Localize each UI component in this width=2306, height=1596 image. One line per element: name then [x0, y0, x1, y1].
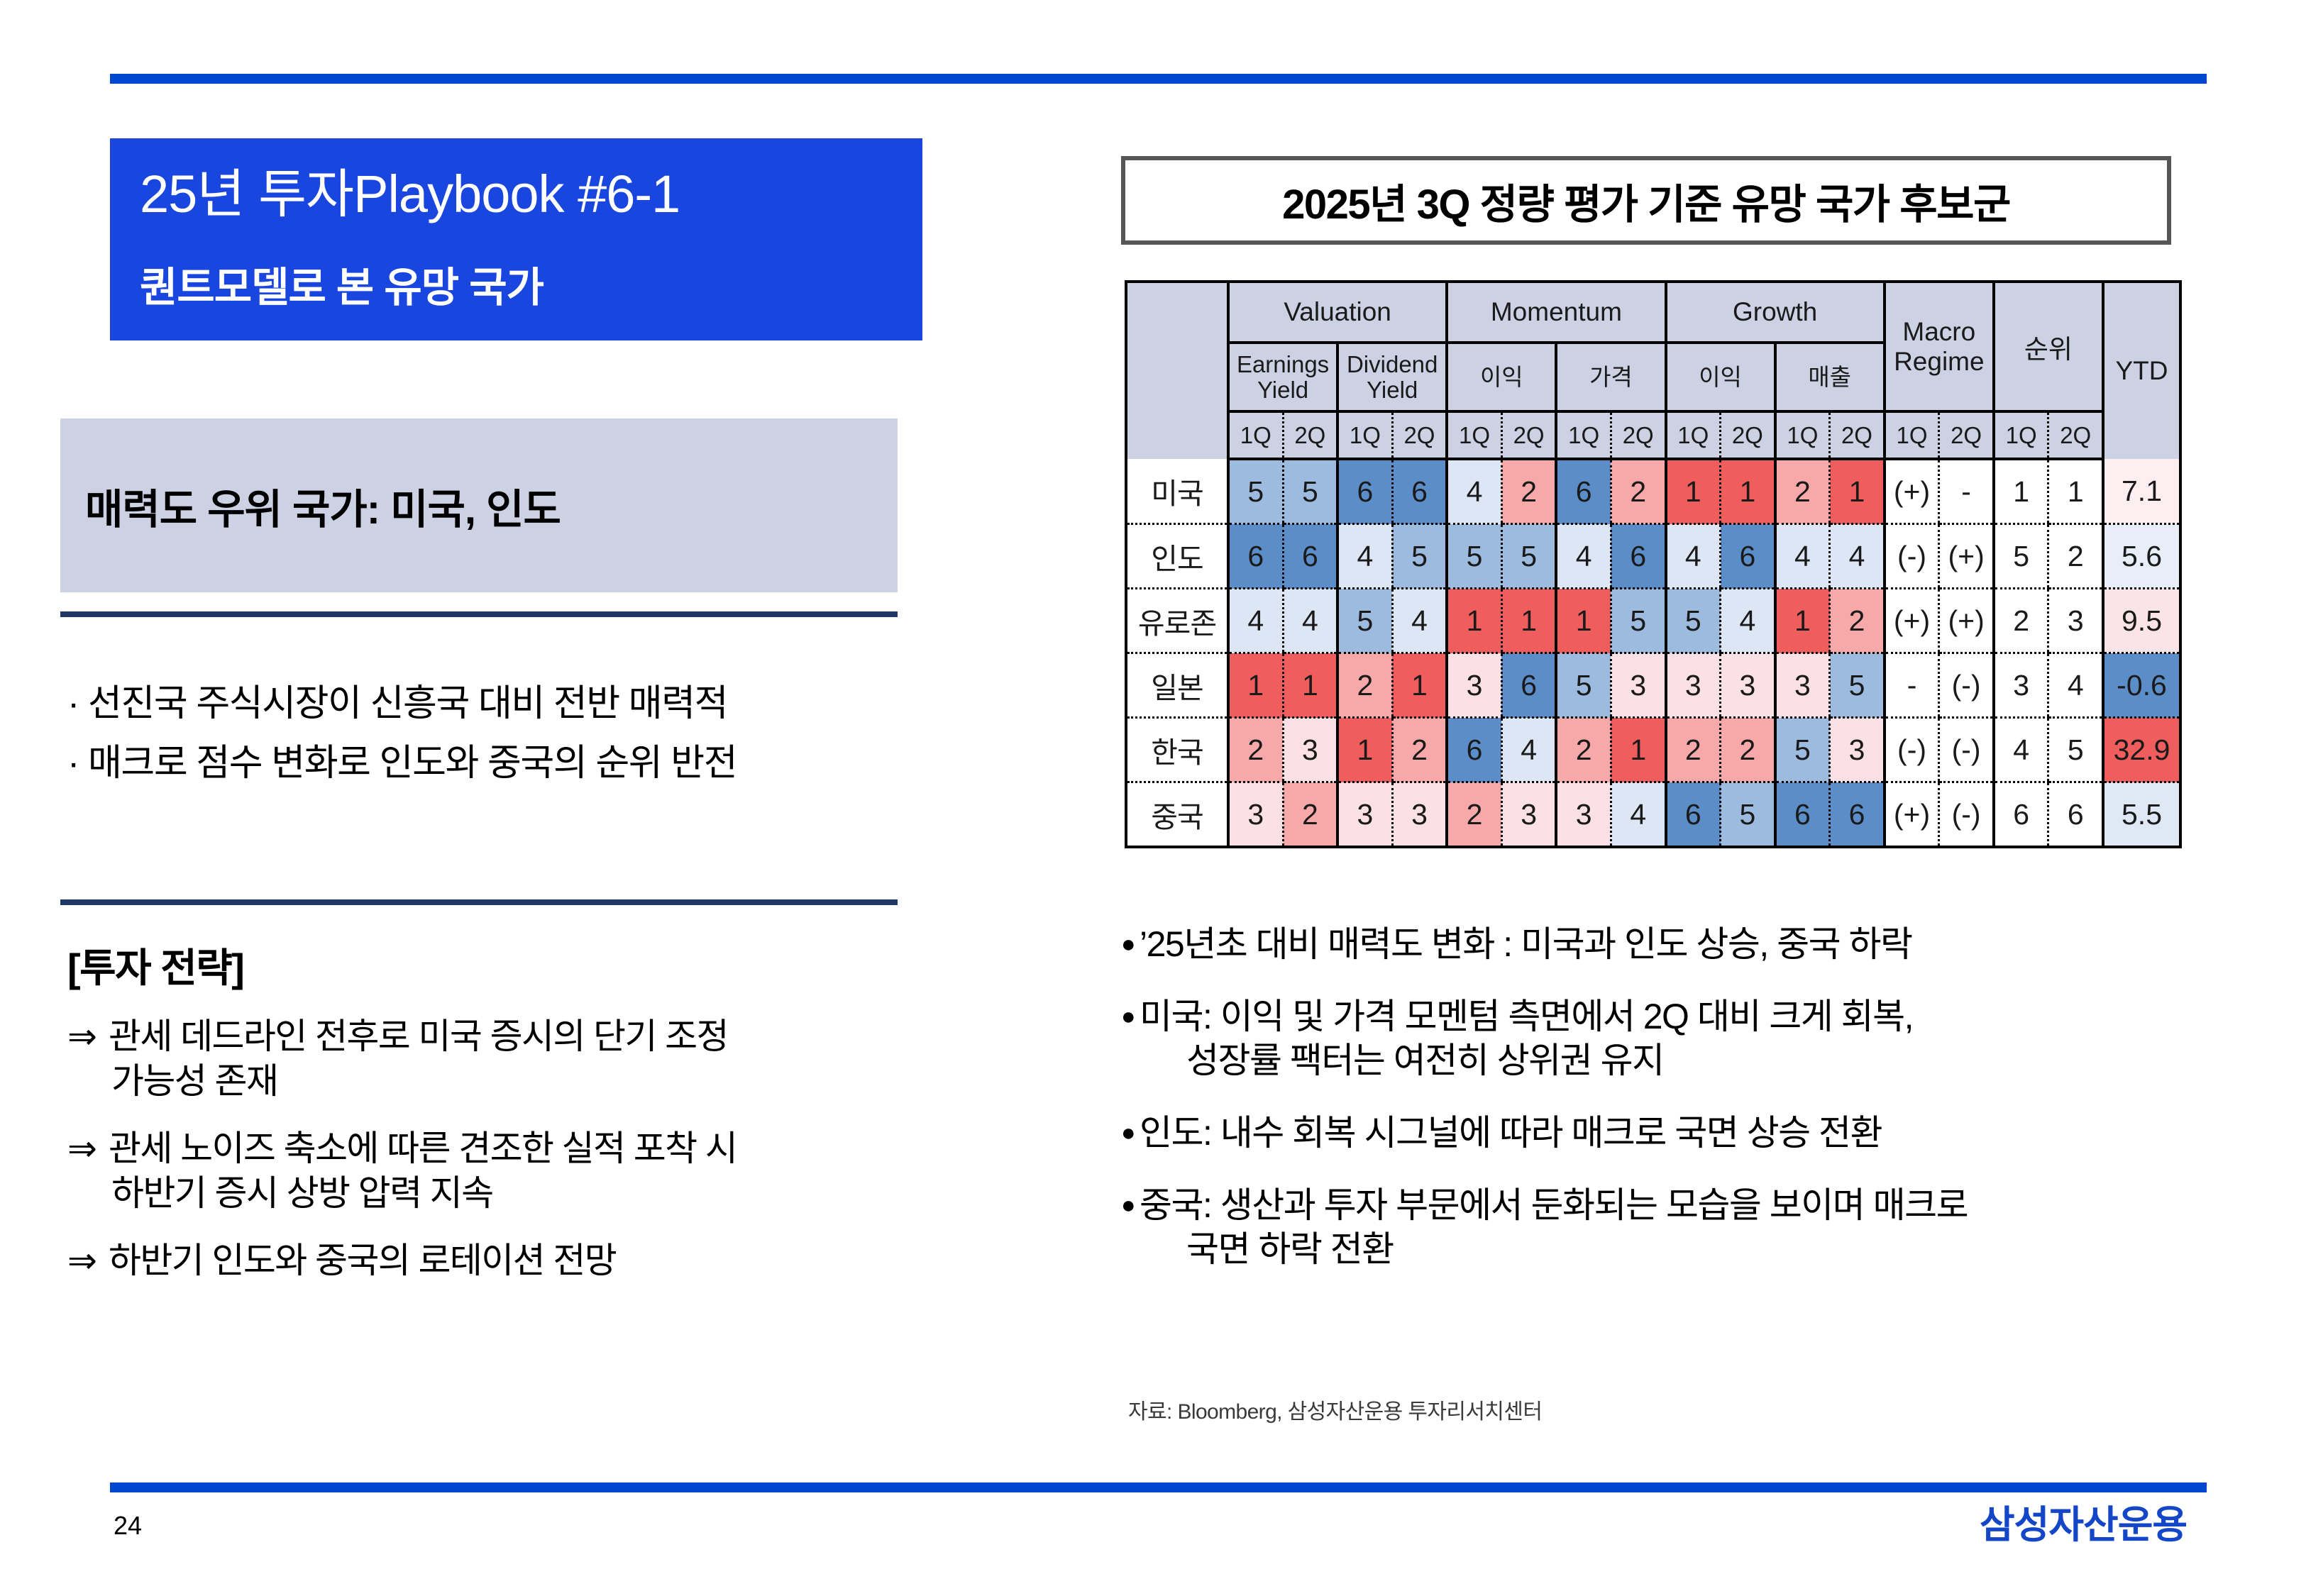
- score-cell: 4: [1228, 589, 1283, 653]
- group-header-valuation: Valuation: [1228, 282, 1447, 343]
- score-cell: 2: [1337, 653, 1392, 718]
- score-cell: 6: [1775, 782, 1830, 848]
- score-cell: 5: [1392, 524, 1447, 589]
- score-cell: 5: [1556, 653, 1611, 718]
- score-cell: 5: [1775, 718, 1830, 782]
- bullet-line2: 성장률 팩터는 여전히 상위권 유지: [1121, 1038, 2200, 1082]
- score-cell: 3: [1556, 782, 1611, 848]
- table-body: 미국556642621121(+)-117.1인도664555464644(-)…: [1126, 459, 2180, 847]
- score-cell: 5: [1666, 589, 1721, 653]
- strategy-list: ⇒관세 데드라인 전후로 미국 증시의 단기 조정 가능성 존재 ⇒관세 노이즈…: [67, 1014, 933, 1306]
- score-cell: 5: [1721, 782, 1775, 848]
- score-cell: 4: [1501, 718, 1556, 782]
- page-title: 25년 투자Playbook #6-1: [110, 165, 922, 224]
- score-cell: 1: [1283, 653, 1337, 718]
- macro-regime-cell: (+): [1939, 524, 1994, 589]
- score-cell: 3: [1337, 782, 1392, 848]
- macro-regime-cell: (+): [1885, 589, 1939, 653]
- top-rule: [110, 74, 2207, 84]
- strategy-item-line1: 관세 데드라인 전후로 미국 증시의 단기 조정: [109, 1016, 728, 1056]
- left-bullet-list: · 선진국 주식시장이 신흥국 대비 전반 매력적 · 매크로 점수 변화로 인…: [67, 674, 919, 793]
- score-cell: 5: [1611, 589, 1665, 653]
- quarter-header-2q: 2Q: [1501, 411, 1556, 459]
- ytd-cell: 5.6: [2103, 524, 2180, 589]
- left-column: 25년 투자Playbook #6-1 퀀트모델로 본 유망 국가: [110, 138, 1008, 340]
- page-number: 24: [114, 1511, 142, 1541]
- score-cell: 6: [1447, 718, 1501, 782]
- list-item: ⇒관세 노이즈 축소에 따른 견조한 실적 포착 시 하반기 증시 상방 압력 …: [67, 1126, 933, 1216]
- list-item: ●미국: 이익 및 가격 모멘텀 측면에서 2Q 대비 크게 회복, 성장률 팩…: [1121, 994, 2200, 1082]
- score-cell: 3: [1611, 653, 1665, 718]
- bullet-line1: 중국: 생산과 투자 부문에서 둔화되는 모습을 보이며 매크로: [1140, 1185, 1968, 1225]
- quarter-header-1q: 1Q: [1556, 411, 1611, 459]
- quarter-header-2q: 2Q: [1721, 411, 1775, 459]
- score-cell: 6: [1721, 524, 1775, 589]
- score-cell: 6: [1556, 459, 1611, 524]
- score-cell: 6: [1666, 782, 1721, 848]
- score-cell: 5: [1501, 524, 1556, 589]
- macro-regime-cell: (+): [1885, 459, 1939, 524]
- quarter-header-2q: 2Q: [1611, 411, 1665, 459]
- score-cell: 4: [1283, 589, 1337, 653]
- source-note: 자료: Bloomberg, 삼성자산운용 투자리서치센터: [1128, 1394, 1542, 1425]
- strategy-item-line1: 하반기 인도와 중국의 로테이션 전망: [109, 1241, 616, 1280]
- score-cell: 1: [1611, 718, 1665, 782]
- sub-header-earnings-yield: Earnings Yield: [1228, 343, 1337, 411]
- score-cell: 4: [1721, 589, 1775, 653]
- score-cell: 5: [1283, 459, 1337, 524]
- ytd-cell: 9.5: [2103, 589, 2180, 653]
- score-cell: 5: [1830, 653, 1885, 718]
- score-cell: 5: [1228, 459, 1283, 524]
- quarter-header-1q: 1Q: [1994, 411, 2048, 459]
- brand-logo: 삼성자산운용: [1980, 1493, 2187, 1549]
- score-cell: 6: [1830, 782, 1885, 848]
- sub-header-momentum-price: 가격: [1556, 343, 1665, 411]
- strategy-item-line1: 관세 노이즈 축소에 따른 견조한 실적 포착 시: [109, 1129, 737, 1168]
- highlight-banner: 매력도 우위 국가: 미국, 인도: [60, 419, 898, 592]
- sub-header-dividend-yield: Dividend Yield: [1337, 343, 1447, 411]
- country-score-table: Valuation Momentum Growth Macro Regime 순…: [1125, 280, 2182, 848]
- strategy-heading: [투자 전략]: [67, 936, 243, 994]
- score-cell: 5: [1337, 589, 1392, 653]
- score-cell: 6: [1392, 459, 1447, 524]
- sub-header-momentum-earnings: 이익: [1447, 343, 1556, 411]
- score-cell: 1: [1392, 653, 1447, 718]
- group-header-rank: 순위: [1994, 282, 2103, 411]
- score-cell: 6: [1611, 524, 1665, 589]
- quarter-header-1q: 1Q: [1885, 411, 1939, 459]
- page-subtitle: 퀀트모델로 본 유망 국가: [110, 224, 922, 311]
- macro-regime-cell: (-): [1885, 524, 1939, 589]
- score-cell: 4: [1611, 782, 1665, 848]
- bullet-line1: 미국: 이익 및 가격 모멘텀 측면에서 2Q 대비 크게 회복,: [1140, 997, 1913, 1036]
- rank-cell: 3: [2048, 589, 2103, 653]
- list-item: · 매크로 점수 변화로 인도와 중국의 순위 반전: [67, 733, 919, 793]
- score-cell: 1: [1556, 589, 1611, 653]
- quarter-header-2q: 2Q: [1283, 411, 1337, 459]
- score-cell: 1: [1337, 718, 1392, 782]
- row-label-1: 미국: [1126, 459, 1228, 524]
- quarter-header-1q: 1Q: [1775, 411, 1830, 459]
- score-cell: 2: [1392, 718, 1447, 782]
- macro-regime-cell: -: [1939, 459, 1994, 524]
- score-cell: 2: [1556, 718, 1611, 782]
- bullet-dot-icon: ●: [1121, 1118, 1140, 1148]
- table-row: 한국231264212253(-)(-)4532.9: [1126, 718, 2180, 782]
- score-cell: 4: [1337, 524, 1392, 589]
- quarter-header-1q: 1Q: [1447, 411, 1501, 459]
- bullet-line1: ’25년초 대비 매력도 변화 : 미국과 인도 상승, 중국 하락: [1140, 924, 1912, 964]
- bullet-line1: 인도: 내수 회복 시그널에 따라 매크로 국면 상승 전환: [1140, 1113, 1882, 1153]
- list-item: · 선진국 주식시장이 신흥국 대비 전반 매력적: [67, 674, 919, 733]
- bullet-dot-icon: ●: [1121, 1002, 1140, 1031]
- right-bullet-list: ●’25년초 대비 매력도 변화 : 미국과 인도 상승, 중국 하락 ●미국:…: [1121, 922, 2200, 1299]
- quarter-header-2q: 2Q: [1830, 411, 1885, 459]
- score-cell: 2: [1830, 589, 1885, 653]
- rank-cell: 6: [1994, 782, 2048, 848]
- quarter-header-1q: 1Q: [1228, 411, 1283, 459]
- rank-cell: 1: [1994, 459, 2048, 524]
- score-cell: 3: [1228, 782, 1283, 848]
- group-header-ytd: YTD: [2103, 282, 2180, 459]
- quarter-header-2q: 2Q: [1392, 411, 1447, 459]
- macro-regime-cell: (-): [1939, 782, 1994, 848]
- score-cell: 3: [1392, 782, 1447, 848]
- rank-cell: 4: [1994, 718, 2048, 782]
- score-cell: 2: [1721, 718, 1775, 782]
- bullet-dot-icon: ●: [1121, 929, 1140, 959]
- macro-regime-cell: (-): [1939, 653, 1994, 718]
- group-header-growth: Growth: [1666, 282, 1885, 343]
- score-cell: 6: [1283, 524, 1337, 589]
- rank-cell: 5: [2048, 718, 2103, 782]
- score-cell: 4: [1666, 524, 1721, 589]
- table-header-row-quarters: 1Q 2Q 1Q 2Q 1Q 2Q 1Q 2Q 1Q 2Q 1Q 2Q 1Q 2…: [1126, 411, 2180, 459]
- score-cell: 6: [1337, 459, 1392, 524]
- table-header: Valuation Momentum Growth Macro Regime 순…: [1126, 282, 2180, 459]
- quarter-header-1q: 1Q: [1666, 411, 1721, 459]
- score-cell: 3: [1501, 782, 1556, 848]
- list-item: ●’25년초 대비 매력도 변화 : 미국과 인도 상승, 중국 하락: [1121, 922, 2200, 966]
- table-row: 인도664555464644(-)(+)525.6: [1126, 524, 2180, 589]
- list-item: ●중국: 생산과 투자 부문에서 둔화되는 모습을 보이며 매크로 국면 하락 …: [1121, 1183, 2200, 1271]
- score-cell: 3: [1283, 718, 1337, 782]
- macro-regime-cell: (-): [1939, 718, 1994, 782]
- panel-title-text: 2025년 3Q 정량 평가 기준 유망 국가 후보군: [1282, 171, 2010, 231]
- score-cell: 2: [1447, 782, 1501, 848]
- divider-lower: [60, 899, 898, 905]
- score-cell: 1: [1775, 589, 1830, 653]
- arrow-icon: ⇒: [67, 1238, 109, 1283]
- bullet-line2: 국면 하락 전환: [1121, 1227, 2200, 1271]
- rank-cell: 3: [1994, 653, 2048, 718]
- score-cell: 1: [1830, 459, 1885, 524]
- score-cell: 2: [1611, 459, 1665, 524]
- score-cell: 5: [1447, 524, 1501, 589]
- ytd-cell: -0.6: [2103, 653, 2180, 718]
- panel-title-box: 2025년 3Q 정량 평가 기준 유망 국가 후보군: [1121, 156, 2171, 245]
- list-item: ⇒하반기 인도와 중국의 로테이션 전망: [67, 1238, 933, 1283]
- score-cell: 1: [1447, 589, 1501, 653]
- rank-cell: 2: [2048, 524, 2103, 589]
- score-cell: 4: [1392, 589, 1447, 653]
- score-cell: 2: [1501, 459, 1556, 524]
- bullet-dot-icon: ●: [1121, 1190, 1140, 1220]
- quarter-header-2q: 2Q: [1939, 411, 1994, 459]
- table-row: 미국556642621121(+)-117.1: [1126, 459, 2180, 524]
- bottom-rule: [110, 1483, 2207, 1492]
- macro-regime-cell: (-): [1885, 718, 1939, 782]
- table-row: 중국323323346566(+)(-)665.5: [1126, 782, 2180, 848]
- score-cell: 2: [1228, 718, 1283, 782]
- rank-cell: 1: [2048, 459, 2103, 524]
- right-column: 2025년 3Q 정량 평가 기준 유망 국가 후보군: [1121, 156, 2192, 245]
- row-label-5: 한국: [1126, 718, 1228, 782]
- score-cell: 1: [1721, 459, 1775, 524]
- score-cell: 4: [1447, 459, 1501, 524]
- row-label-6: 중국: [1126, 782, 1228, 848]
- table-header-row-groups: Valuation Momentum Growth Macro Regime 순…: [1126, 282, 2180, 343]
- score-cell: 3: [1666, 653, 1721, 718]
- sub-header-growth-earnings: 이익: [1666, 343, 1775, 411]
- macro-regime-cell: -: [1885, 653, 1939, 718]
- table-row: 일본112136533335-(-)34-0.6: [1126, 653, 2180, 718]
- quarter-header-1q: 1Q: [1337, 411, 1392, 459]
- quarter-header-2q: 2Q: [2048, 411, 2103, 459]
- divider-upper: [60, 611, 898, 617]
- score-cell: 3: [1775, 653, 1830, 718]
- macro-regime-cell: (+): [1885, 782, 1939, 848]
- rank-cell: 5: [1994, 524, 2048, 589]
- arrow-icon: ⇒: [67, 1126, 109, 1171]
- strategy-item-line2: 하반기 증시 상방 압력 지속: [67, 1171, 933, 1216]
- corner-cell: [1126, 282, 1228, 459]
- row-label-2: 인도: [1126, 524, 1228, 589]
- row-label-4: 일본: [1126, 653, 1228, 718]
- ytd-cell: 7.1: [2103, 459, 2180, 524]
- score-cell: 1: [1666, 459, 1721, 524]
- ytd-cell: 5.5: [2103, 782, 2180, 848]
- sub-header-growth-sales: 매출: [1775, 343, 1885, 411]
- list-item: ⇒관세 데드라인 전후로 미국 증시의 단기 조정 가능성 존재: [67, 1014, 933, 1104]
- score-cell: 1: [1228, 653, 1283, 718]
- arrow-icon: ⇒: [67, 1014, 109, 1059]
- rank-cell: 6: [2048, 782, 2103, 848]
- row-label-3: 유로존: [1126, 589, 1228, 653]
- score-cell: 2: [1775, 459, 1830, 524]
- score-cell: 6: [1228, 524, 1283, 589]
- slide-title-box: 25년 투자Playbook #6-1 퀀트모델로 본 유망 국가: [110, 138, 922, 340]
- score-cell: 2: [1666, 718, 1721, 782]
- score-cell: 3: [1721, 653, 1775, 718]
- score-cell: 4: [1556, 524, 1611, 589]
- group-header-momentum: Momentum: [1447, 282, 1665, 343]
- score-cell: 1: [1501, 589, 1556, 653]
- highlight-banner-text: 매력도 우위 국가: 미국, 인도: [60, 476, 561, 536]
- macro-regime-cell: (+): [1939, 589, 1994, 653]
- list-item: ●인도: 내수 회복 시그널에 따라 매크로 국면 상승 전환: [1121, 1111, 2200, 1155]
- score-cell: 4: [1775, 524, 1830, 589]
- group-header-macro-regime: Macro Regime: [1885, 282, 1994, 411]
- rank-cell: 4: [2048, 653, 2103, 718]
- score-cell: 2: [1283, 782, 1337, 848]
- strategy-item-line2: 가능성 존재: [67, 1059, 933, 1104]
- ytd-cell: 32.9: [2103, 718, 2180, 782]
- score-cell: 3: [1447, 653, 1501, 718]
- rank-cell: 2: [1994, 589, 2048, 653]
- table-row: 유로존445411155412(+)(+)239.5: [1126, 589, 2180, 653]
- score-cell: 4: [1830, 524, 1885, 589]
- score-cell: 3: [1830, 718, 1885, 782]
- score-cell: 6: [1501, 653, 1556, 718]
